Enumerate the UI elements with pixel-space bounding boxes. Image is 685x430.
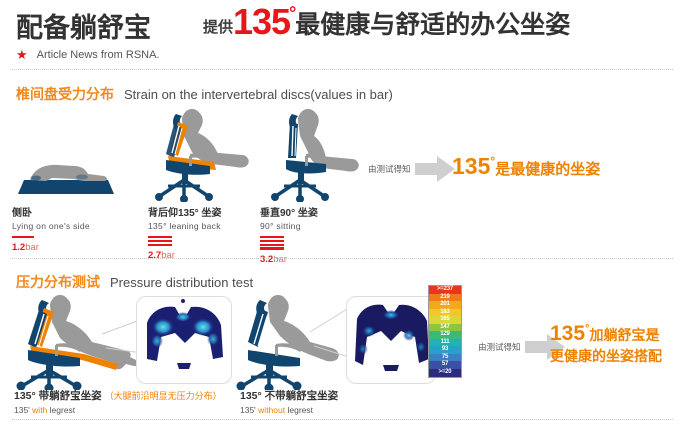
headline-angle: 135 xyxy=(233,4,290,40)
section2-conclusion: 135°加躺舒宝是 更健康的坐姿搭配 xyxy=(550,324,662,366)
caption-side-lying: 侧卧 Lying on one's side 1.2bar xyxy=(12,204,90,253)
section1-heading: 椎间盘受力分布 Strain on the intervertebral dis… xyxy=(16,84,393,104)
conclusion-text: 是最健康的坐姿 xyxy=(495,161,600,178)
caption-without-legrest: 135° 不带躺舒宝坐姿 135' without legrest xyxy=(240,388,338,415)
caption-cn: 135° 带躺舒宝坐姿 （大腿前沿明显无压力分布） xyxy=(14,388,222,403)
footer-divider xyxy=(12,419,673,420)
section1-arrow-group: 由测试得知 xyxy=(368,156,455,182)
source-row: ★ Article News from RSNA. xyxy=(16,48,160,61)
caption-en: 90° sitting xyxy=(260,221,318,231)
figure-leaning-135 xyxy=(148,106,256,207)
legend-row: >=237 xyxy=(429,286,461,294)
conclusion-degree: ° xyxy=(490,154,495,168)
section1-arrow-label: 由测试得知 xyxy=(368,163,411,175)
legend-row: 93 xyxy=(429,346,461,354)
strain-bars-leaning-135 xyxy=(148,236,221,246)
figure-side-lying xyxy=(12,150,120,205)
caption-upright-90: 垂直90° 坐姿 90° sitting 3.2bar xyxy=(260,204,318,265)
caption-cn: 背后仰135° 坐姿 xyxy=(148,204,221,219)
caption-cn: 侧卧 xyxy=(12,204,90,219)
header-divider xyxy=(12,69,673,70)
conclusion-angle: 135 xyxy=(452,153,490,179)
section1-conclusion: 135°是最健康的坐姿 xyxy=(452,153,600,180)
section2-title-en: Pressure distribution test xyxy=(110,275,253,290)
headline-group: 提供 135 ° 最健康与舒适的办公坐姿 xyxy=(203,2,572,40)
legend-row: 111 xyxy=(429,339,461,347)
section1-title-en: Strain on the intervertebral discs(value… xyxy=(124,87,393,102)
strain-bars-upright-90 xyxy=(260,236,318,250)
chair-135-illustration xyxy=(148,106,256,202)
conclusion-line-1: 135°加躺舒宝是 xyxy=(550,324,662,347)
page-title: 配备躺舒宝 xyxy=(16,6,151,45)
legend-row: 147 xyxy=(429,324,461,332)
section2-title-cn: 压力分布测试 xyxy=(16,272,100,292)
pressure-panel-with-legrest xyxy=(136,296,232,384)
pressure-map-with-legrest xyxy=(137,297,231,383)
headline-lead: 提供 xyxy=(203,16,233,37)
strain-bars-side-lying xyxy=(12,236,90,238)
conclusion-degree: ° xyxy=(585,323,589,335)
caption-en: 135' with legrest xyxy=(14,405,222,415)
caption-en: 135' without legrest xyxy=(240,405,338,415)
caption-en: Lying on one's side xyxy=(12,221,90,231)
legend-row: 165 xyxy=(429,316,461,324)
legend-row: 219 xyxy=(429,294,461,302)
figure-upright-90 xyxy=(260,106,368,207)
section1-title-cn: 椎间盘受力分布 xyxy=(16,84,114,104)
legend-row: >=20 xyxy=(429,369,461,377)
conclusion-text-1: 加躺舒宝是 xyxy=(589,327,659,343)
legend-row: 129 xyxy=(429,331,461,339)
side-lying-illustration xyxy=(12,150,120,200)
source-note: Article News from RSNA. xyxy=(37,49,160,61)
caption-leaning-135: 背后仰135° 坐姿 135° leaning back 2.7bar xyxy=(148,204,221,261)
conclusion-text-2: 更健康的坐姿搭配 xyxy=(550,347,662,366)
strain-value-leaning-135: 2.7bar xyxy=(148,250,221,261)
poster-root: 配备躺舒宝 提供 135 ° 最健康与舒适的办公坐姿 ★ Article New… xyxy=(0,0,685,430)
strain-value-upright-90: 3.2bar xyxy=(260,254,318,265)
pressure-scale-legend: >=237219201183165147129111937557>=20 xyxy=(428,285,462,378)
legend-row: 183 xyxy=(429,309,461,317)
arrow-right-icon xyxy=(415,156,455,182)
legend-row: 57 xyxy=(429,361,461,369)
conclusion-angle: 135 xyxy=(550,322,585,345)
caption-cn: 135° 不带躺舒宝坐姿 xyxy=(240,388,338,403)
section2-arrow-label: 由测试得知 xyxy=(478,341,521,353)
headline-tail: 最健康与舒适的办公坐姿 xyxy=(295,5,570,41)
legend-row: 201 xyxy=(429,301,461,309)
chair-90-illustration xyxy=(260,106,368,202)
caption-with-legrest: 135° 带躺舒宝坐姿 （大腿前沿明显无压力分布） 135' with legr… xyxy=(14,388,222,415)
section1-divider xyxy=(12,258,673,259)
section2-heading: 压力分布测试 Pressure distribution test xyxy=(16,272,253,292)
caption-cn: 垂直90° 坐姿 xyxy=(260,204,318,219)
legend-row: 75 xyxy=(429,354,461,362)
pressure-map-without-legrest xyxy=(347,297,435,383)
caption-en: 135° leaning back xyxy=(148,221,221,231)
strain-value-side-lying: 1.2bar xyxy=(12,242,90,253)
section-pressure-distribution: 压力分布测试 Pressure distribution test xyxy=(0,268,685,430)
star-icon: ★ xyxy=(16,48,28,61)
header: 配备躺舒宝 提供 135 ° 最健康与舒适的办公坐姿 ★ Article New… xyxy=(0,0,685,72)
section-spinal-strain: 椎间盘受力分布 Strain on the intervertebral dis… xyxy=(0,78,685,258)
pressure-panel-without-legrest xyxy=(346,296,436,384)
caption-note: （大腿前沿明显无压力分布） xyxy=(105,391,222,401)
